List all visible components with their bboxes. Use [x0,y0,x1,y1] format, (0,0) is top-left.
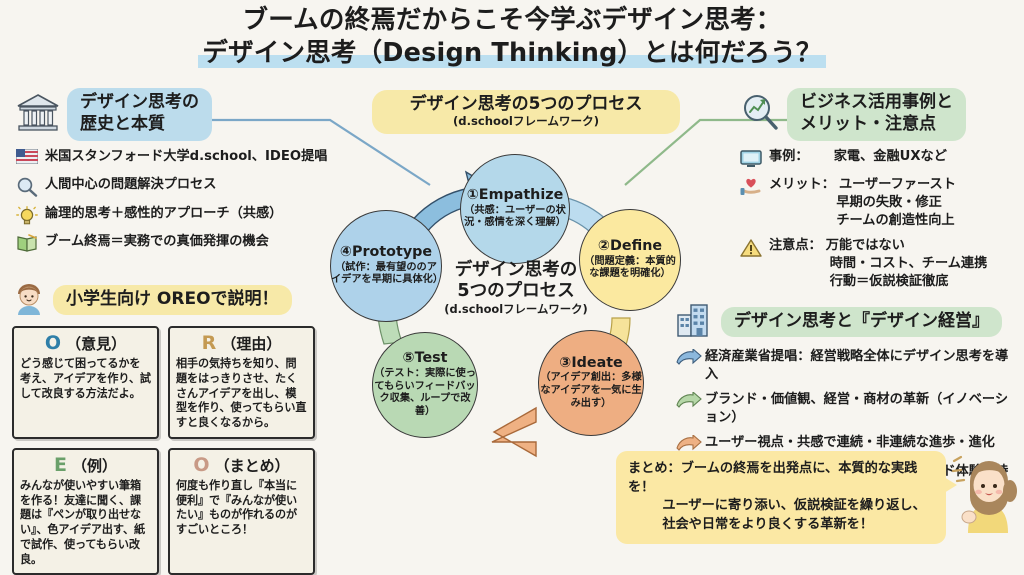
oreo-label: （まとめ） [215,455,290,476]
business-row: 注意点： 万能ではない 時間・コスト、チーム連携 行動＝仮説検証徹底 [740,237,1024,290]
summary-callout: まとめ：ブームの終焉を出発点に、本質的な実践を！ ユーザーに寄り添い、仮説検証を… [616,451,946,544]
business-heading-line1: ビジネス活用事例と [800,92,953,112]
oreo-body: みんなが使いやすい筆箱を作る！友達に聞く、課題は『ペンが取り出せない』、色アイデ… [20,479,151,568]
keiei-heading: デザイン思考と『デザイン経営』 [676,303,1020,341]
warning-icon [740,238,762,258]
boy-avatar-icon [12,281,46,319]
node-desc: （共感：ユーザーの状況・感情を深く理解） [461,205,569,231]
oreo-letter: O [193,456,209,475]
history-bullet: 米国スタンフォード大学d.school、IDEO提唱 [16,148,334,169]
node-desc: （試作：最有望ののアイデアを早期に具体化） [331,262,441,288]
cycle-heading-main: デザイン思考の5つのプロセス [380,94,672,114]
chart-magnifier-icon [740,92,780,136]
history-bullet-text: 米国スタンフォード大学d.school、IDEO提唱 [45,148,327,166]
title-line-1: ブームの終焉だからこそ今学ぶデザイン思考： [243,4,782,37]
history-bullet: 人間中心の問題解決プロセス [16,176,334,197]
history-heading-line1: デザイン思考の [80,92,199,112]
business-heading-pill: ビジネス活用事例と メリット・注意点 [787,88,966,141]
business-row-value: 家電、金融UXなど [834,148,947,166]
node-title: ④Prototype [340,245,432,261]
node-title: ①Empathize [467,188,564,204]
summary-bubble: まとめ：ブームの終焉を出発点に、本質的な実践を！ ユーザーに寄り添い、仮説検証を… [616,451,946,544]
arrow-blue-icon [676,349,698,369]
building-icon [676,303,714,341]
oreo-body: 何度も作り直し『本当に便利』で『みんなが使いたい』ものが作れるのがすごいところ！ [176,479,307,538]
flag-us-icon [16,149,38,169]
business-heading: ビジネス活用事例と メリット・注意点 [740,88,1024,141]
business-row-value: 行動＝仮説検証徹底 [769,273,987,291]
page-title: ブームの終焉だからこそ今学ぶデザイン思考： デザイン思考（Design Thin… [0,4,1024,69]
summary-line-3: 社会や日常をより良くする革新を！ [628,516,934,535]
heart-hand-icon [740,177,762,197]
book-icon [16,234,38,254]
arrow-green-icon [676,392,698,412]
woman-avatar-icon [944,447,1020,533]
business-row-value: 時間・コスト、チーム連携 [769,255,987,273]
cycle-center-line2: 5つのプロセス [428,281,604,302]
business-row: メリット： ユーザーファースト 早期の失敗・修正 チームの創造性向上 [740,176,1024,229]
business-row-text: 事例： 家電、金融UXなど [769,148,947,166]
cycle-heading: デザイン思考の5つのプロセス (d.schoolフレームワーク) [372,90,680,134]
oreo-letter: R [202,334,217,353]
business-heading-line2: メリット・注意点 [800,114,936,134]
business-row-value: チームの創造性向上 [769,212,956,230]
magnifier-icon [16,177,38,197]
node-title: ③Ideate [559,356,623,372]
keiei-heading-pill: デザイン思考と『デザイン経営』 [721,307,1002,338]
node-desc: （アイデア創出：多様なアイデアを一気に生み出す） [539,372,643,410]
node-title: ⑤Test [403,351,448,367]
cycle-center-sub: (d.schoolフレームワーク) [428,302,604,316]
history-bullet: 論理的思考＋感性的アプローチ（共感） [16,205,334,226]
cycle-center-label: デザイン思考の 5つのプロセス (d.schoolフレームワーク) [428,260,604,316]
oreo-body: どう感じて困ってるかを考え、アイデアを作り、試して改良する方法だよ。 [20,357,151,401]
cycle-node-empathize[interactable]: ①Empathize （共感：ユーザーの状況・感情を深く理解） [460,154,570,264]
node-title: ②Define [598,239,662,255]
cycle-node-ideate[interactable]: ③Ideate （アイデア創出：多様なアイデアを一気に生み出す） [538,330,644,436]
cycle-heading-sub: (d.schoolフレームワーク) [380,114,672,128]
history-bullet-text: ブーム終焉＝実務での真価発揮の機会 [45,233,269,251]
cycle-node-test[interactable]: ⑤Test （テスト：実際に使ってもらいフィードバック収集、ループで改善） [372,332,478,438]
cycle-center-line1: デザイン思考の [428,260,604,281]
oreo-card: R （理由） 相手の気持ちを知り、問題をはっきりさせ、たくさんアイデアを出し、模… [168,326,315,439]
history-bullet: ブーム終焉＝実務での真価発揮の機会 [16,233,334,254]
oreo-letter: O [45,334,61,353]
history-panel: デザイン思考の 歴史と本質 米国スタンフォード大学d.school、IDEO提唱 [16,88,334,262]
design-thinking-cycle: デザイン思考の5つのプロセス (d.schoolフレームワーク) ①Empath… [330,92,702,462]
oreo-letter: E [54,456,67,475]
oreo-label: （理由） [221,333,281,354]
lightbulb-icon [16,206,38,226]
keiei-bullet-text: 経済産業省提唱：経営戦略全体にデザイン思考を導入 [705,348,1020,384]
business-row: 事例： 家電、金融UXなど [740,148,1024,169]
business-row-text: メリット： ユーザーファースト 早期の失敗・修正 チームの創造性向上 [769,176,956,229]
business-row-value: 万能ではない [826,237,988,255]
keiei-bullet: 経済産業省提唱：経営戦略全体にデザイン思考を導入 [676,348,1020,384]
history-bullet-text: 人間中心の問題解決プロセス [45,176,216,194]
oreo-panel: 小学生向け OREOで説明！ O （意見） どう感じて困ってるかを考え、アイデア… [12,281,332,575]
keiei-bullet-text: ブランド・価値観、経営・商材の革新（イノベーション） [705,391,1020,427]
business-row-value: 早期の失敗・修正 [769,194,956,212]
cycle-node-prototype[interactable]: ④Prototype （試作：最有望ののアイデアを早期に具体化） [330,210,442,322]
title-line-2: デザイン思考（Design Thinking）とは何だろう？ [198,37,825,70]
oreo-heading-pill: 小学生向け OREOで説明！ [53,285,292,316]
oreo-label: （例） [72,455,117,476]
museum-icon [16,92,60,136]
business-row-key: メリット： [769,176,835,194]
business-row-value: ユーザーファースト [839,176,956,194]
summary-line-2: ユーザーに寄り添い、仮説検証を繰り返し、 [628,497,934,516]
business-row-key: 事例： [769,148,830,166]
oreo-card: O （まとめ） 何度も作り直し『本当に便利』で『みんなが使いたい』ものが作れるの… [168,448,315,575]
summary-line-1: まとめ：ブームの終焉を出発点に、本質的な実践を！ [628,460,934,497]
history-bullet-text: 論理的思考＋感性的アプローチ（共感） [45,205,282,223]
business-row-text: 注意点： 万能ではない 時間・コスト、チーム連携 行動＝仮説検証徹底 [769,237,987,290]
oreo-label: （意見） [66,333,126,354]
oreo-card-grid: O （意見） どう感じて困ってるかを考え、アイデアを作り、試して改良する方法だよ… [12,326,332,575]
history-heading: デザイン思考の 歴史と本質 [16,88,334,141]
business-row-key: 注意点： [769,237,822,255]
business-panel: ビジネス活用事例と メリット・注意点 事例： 家電、金融UXなど [740,88,1024,298]
oreo-card: E （例） みんなが使いやすい筆箱を作る！友達に聞く、課題は『ペンが取り出せない… [12,448,159,575]
keiei-bullet: ブランド・価値観、経営・商材の革新（イノベーション） [676,391,1020,427]
history-heading-line2: 歴史と本質 [80,114,165,134]
monitor-icon [740,149,762,169]
oreo-body: 相手の気持ちを知り、問題をはっきりさせ、たくさんアイデアを出し、模型を作り、使っ… [176,357,307,431]
node-desc: （テスト：実際に使ってもらいフィードバック収集、ループで改善） [373,368,477,419]
history-heading-pill: デザイン思考の 歴史と本質 [67,88,212,141]
oreo-heading: 小学生向け OREOで説明！ [12,281,332,319]
oreo-card: O （意見） どう感じて困ってるかを考え、アイデアを作り、試して改良する方法だよ… [12,326,159,439]
infographic-canvas: ブームの終焉だからこそ今学ぶデザイン思考： デザイン思考（Design Thin… [0,0,1024,536]
